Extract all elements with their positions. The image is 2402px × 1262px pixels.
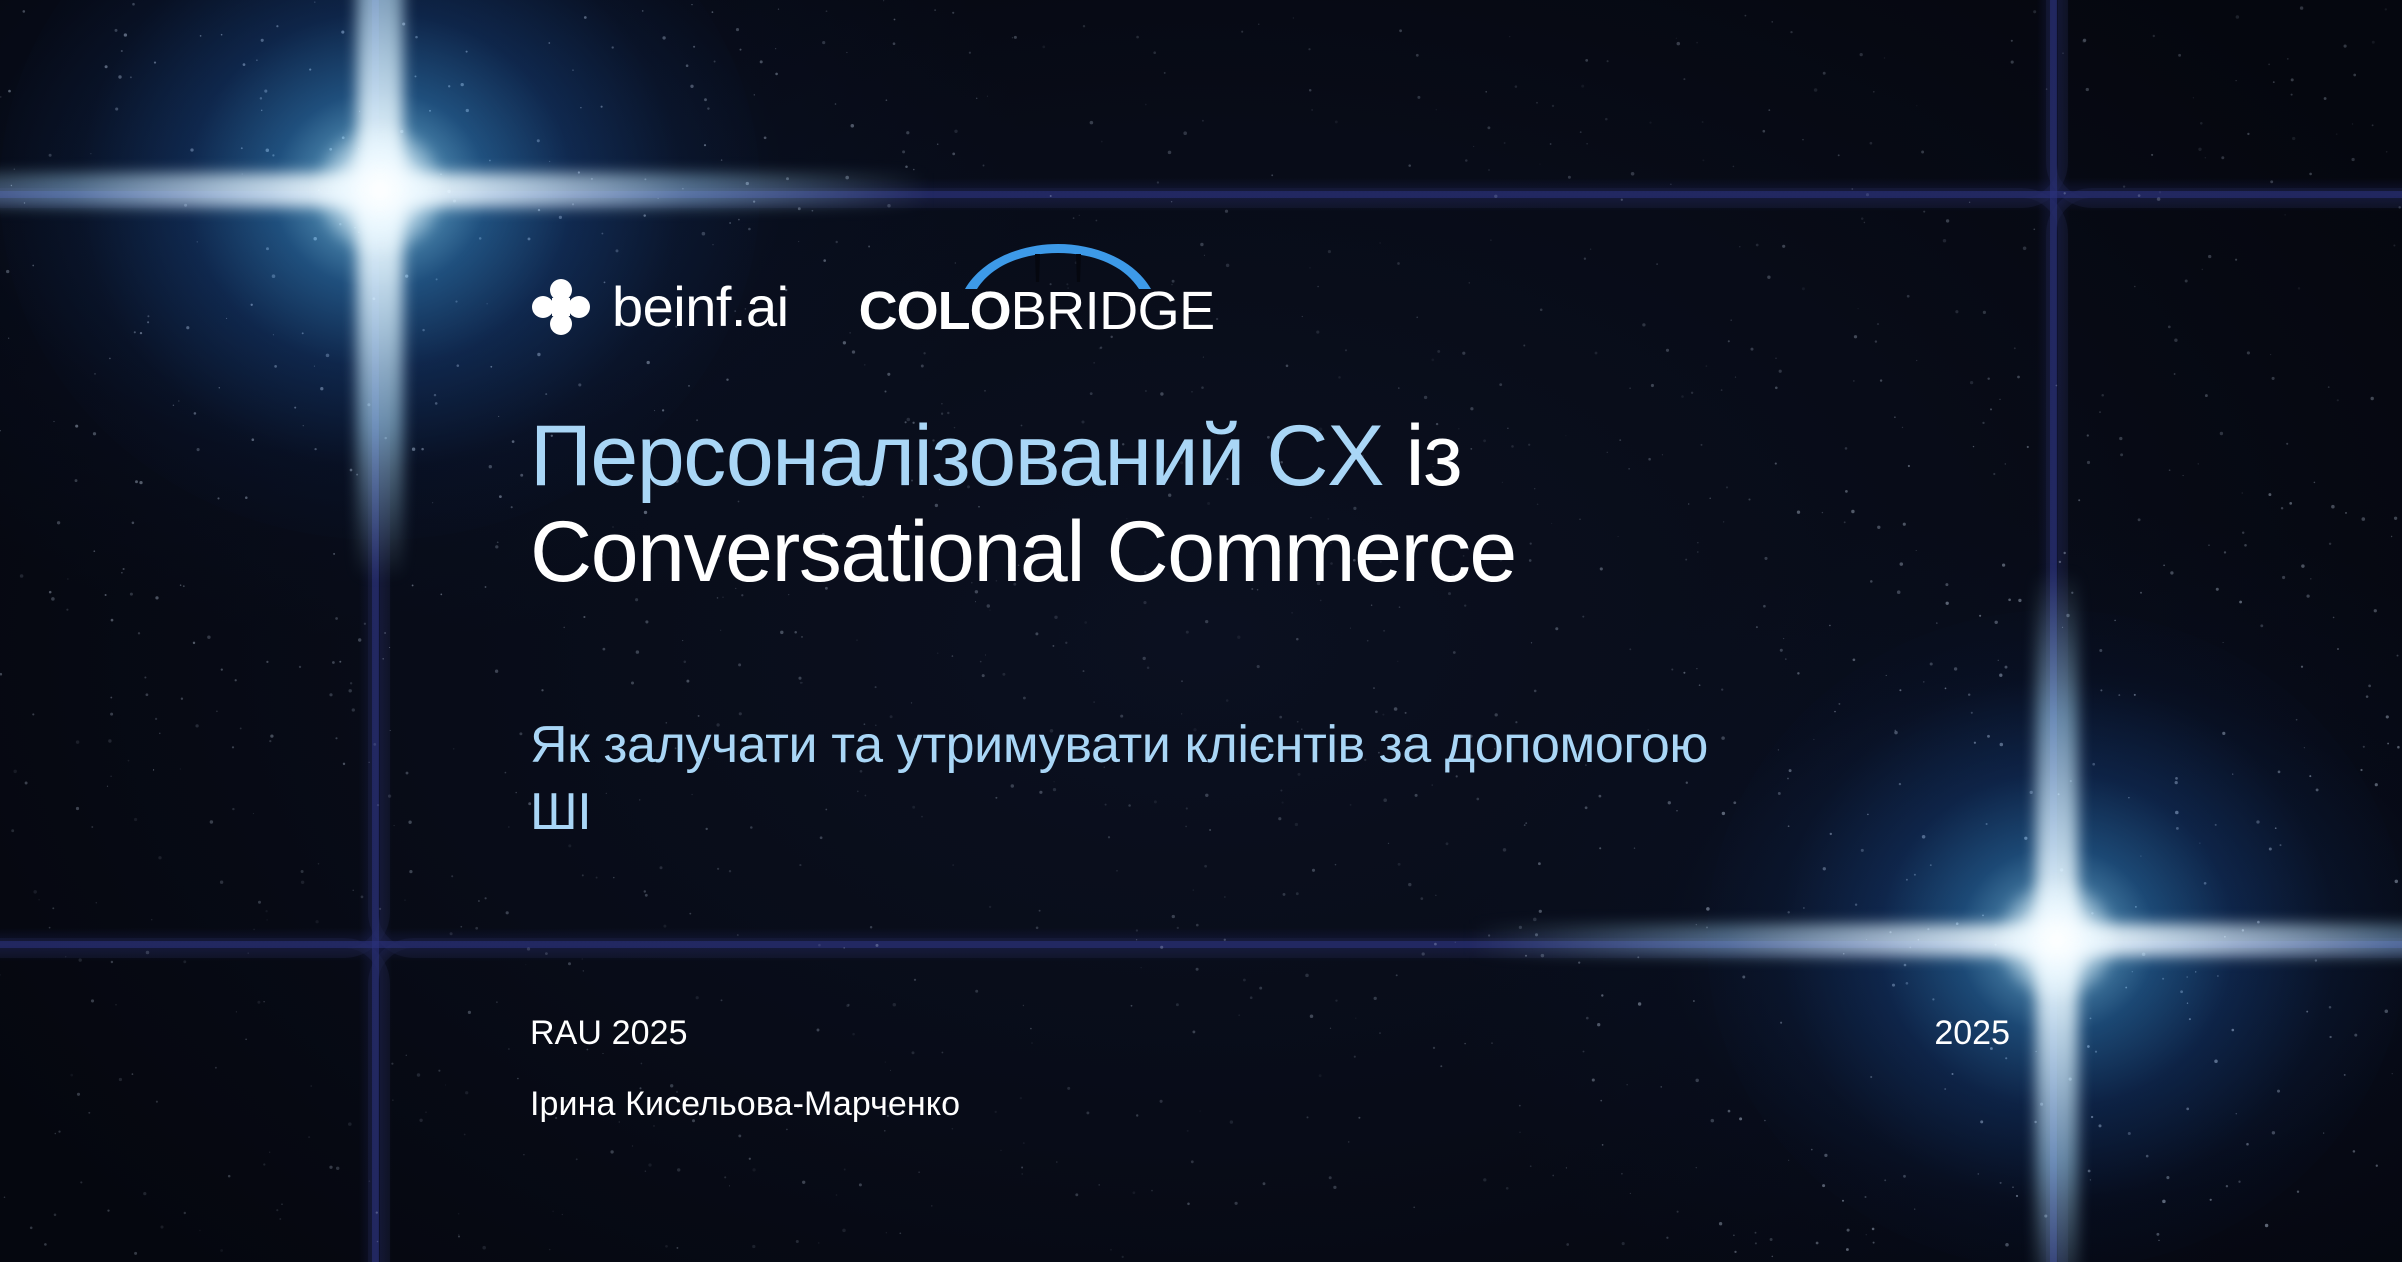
bridge-arc-icon (963, 242, 1153, 290)
headline-connector: із (1383, 408, 1461, 504)
grid-cell (0, 938, 390, 1262)
presentation-slide: beinf.ai COLOBRIDGE Персоналізований CX … (0, 0, 2402, 1262)
four-dot-cluster-icon (530, 276, 592, 338)
footer-year: 2025 (530, 1014, 2010, 1053)
page-title: Персоналізований CX ізConversational Com… (530, 408, 1870, 601)
subtitle: Як залучати та утримувати клієнтів за до… (530, 712, 1760, 845)
headline-accent: Персоналізований CX (530, 408, 1383, 504)
grid-line-vertical (2050, 0, 2057, 1262)
flare-core (1997, 880, 2117, 1000)
grid-cell (2046, 938, 2402, 1262)
logo-row: beinf.ai COLOBRIDGE (530, 248, 1215, 338)
flare-vertical-ray (357, 0, 403, 580)
colobridge-logo: COLOBRIDGE (859, 248, 1215, 338)
flare-core (315, 125, 445, 255)
slide-content: beinf.ai COLOBRIDGE Персоналізований CX … (530, 0, 2010, 1262)
beinf-logo: beinf.ai (530, 276, 789, 338)
grid-cell (0, 0, 390, 208)
grid-cell (0, 188, 390, 958)
grid-cell (2046, 0, 2402, 208)
grid-cell (2046, 188, 2402, 958)
flare-vertical-ray (2036, 570, 2078, 1262)
speaker-name: Ірина Кисельова-Марченко (530, 1085, 960, 1124)
grid-line-vertical (372, 0, 379, 1262)
beinf-wordmark: beinf.ai (612, 279, 789, 335)
headline-line2: Conversational Commerce (530, 504, 1516, 600)
colobridge-wordmark: COLOBRIDGE (859, 284, 1215, 338)
